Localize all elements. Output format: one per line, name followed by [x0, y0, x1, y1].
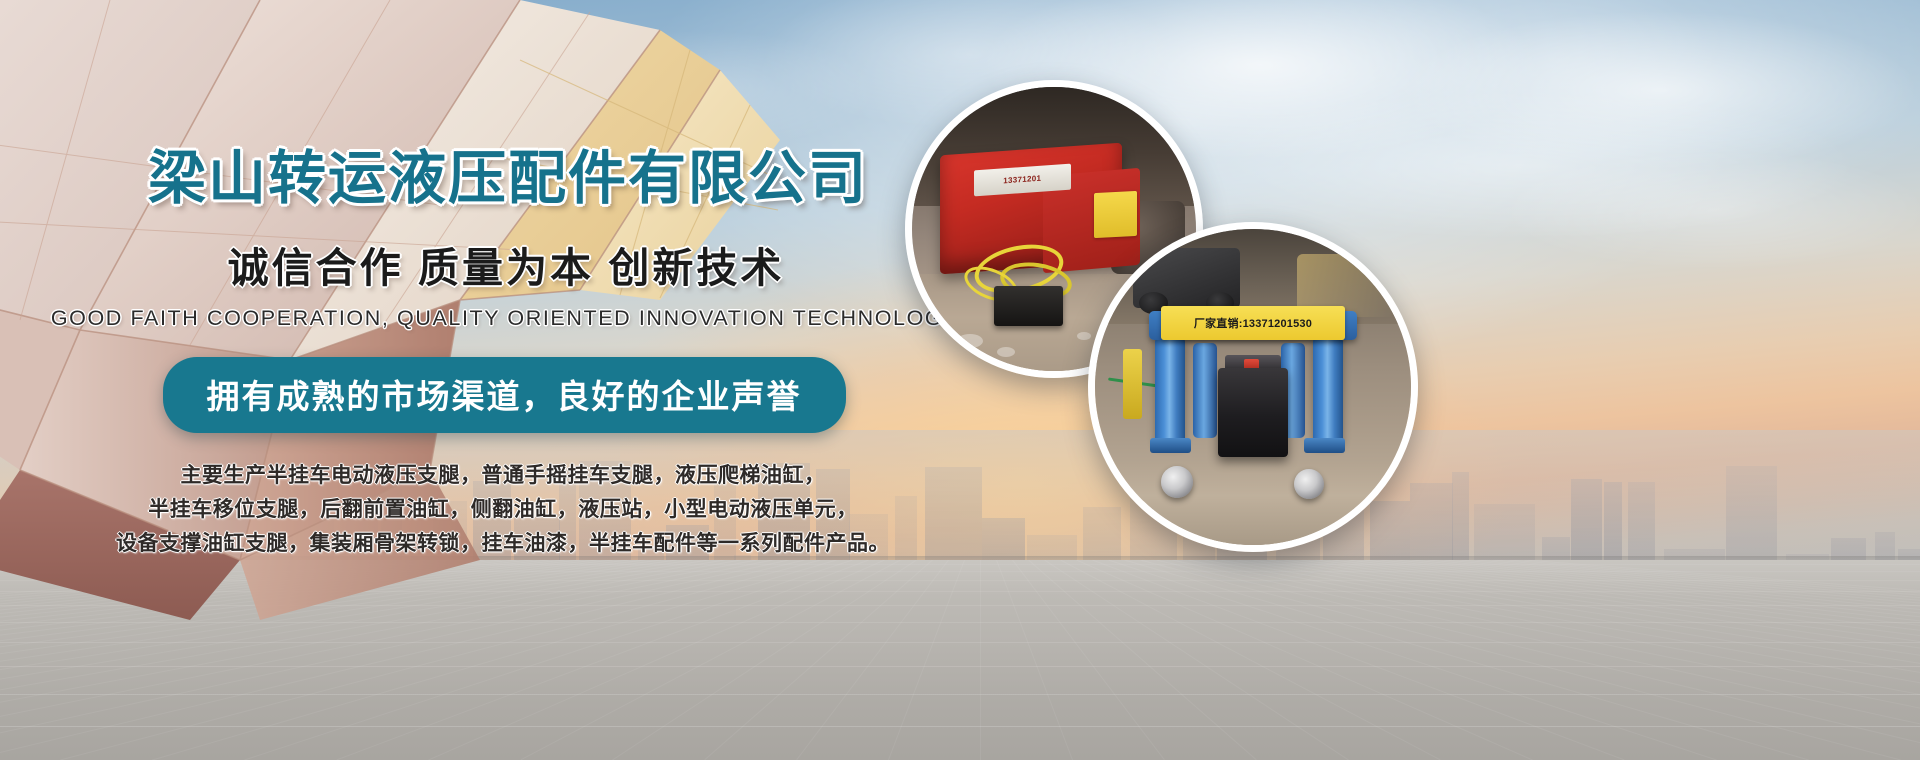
description-line: 主要生产半挂车电动液压支腿，普通手摇挂车支腿，液压爬梯油缸，: [6, 459, 1000, 493]
slogan-chinese: 诚信合作 质量为本 创新技术: [0, 234, 1000, 294]
product-description: 主要生产半挂车电动液压支腿，普通手摇挂车支腿，液压爬梯油缸， 半挂车移位支腿，后…: [0, 459, 1000, 561]
factory-direct-sign: 厂家直销:13371201530: [1161, 306, 1344, 339]
banner-text-block: 梁山转运液压配件有限公司 诚信合作 质量为本 创新技术 GOOD FAITH C…: [0, 150, 1000, 620]
plaza-grid-line: [0, 694, 1920, 695]
description-line: 设备支撑油缸支腿，集装厢骨架转锁，挂车油漆，半挂车配件等一系列配件产品。: [6, 527, 1000, 561]
cylinder-base-plate: [1150, 438, 1191, 454]
blue-hydraulic-cylinder: [1155, 336, 1185, 443]
blue-hydraulic-cylinder: [1313, 336, 1343, 443]
plaza-grid-line: [1092, 560, 1624, 760]
plaza-grid-line: [0, 726, 1920, 727]
description-line: 半挂车移位支腿，后翻前置油缸，侧翻油缸，液压站，小型电动液压单元，: [6, 493, 1000, 527]
plaza-grid-line: [0, 642, 1920, 643]
slogan-english: GOOD FAITH COOPERATION, QUALITY ORIENTED…: [0, 306, 1000, 331]
ground-stone: [1077, 332, 1091, 340]
promotional-banner: 梁山转运液压配件有限公司 诚信合作 质量为本 创新技术 GOOD FAITH C…: [0, 0, 1920, 760]
caster-wheel: [1161, 466, 1193, 498]
highlight-pill-wrapper: 拥有成熟的市场渠道，良好的企业声誉: [0, 357, 1000, 433]
blue-hydraulic-cylinder: [1193, 343, 1217, 438]
yellow-component: [1123, 349, 1142, 419]
dirt-ground: [1095, 463, 1411, 545]
highlight-pill: 拥有成熟的市场渠道，良好的企业声誉: [163, 357, 846, 433]
black-pump-unit: [994, 286, 1062, 326]
plaza-grid-line: [0, 622, 1920, 623]
plaza-grid-line: [0, 666, 1920, 667]
plaza-grid-line: [1060, 560, 1440, 760]
company-title: 梁山转运液压配件有限公司: [0, 150, 1000, 208]
blue-hydraulic-jack-photo: 厂家直销:13371201530: [1088, 222, 1418, 552]
cylinder-base-plate: [1304, 438, 1345, 454]
ground-stone: [997, 347, 1015, 357]
black-control-box: [1218, 368, 1288, 456]
